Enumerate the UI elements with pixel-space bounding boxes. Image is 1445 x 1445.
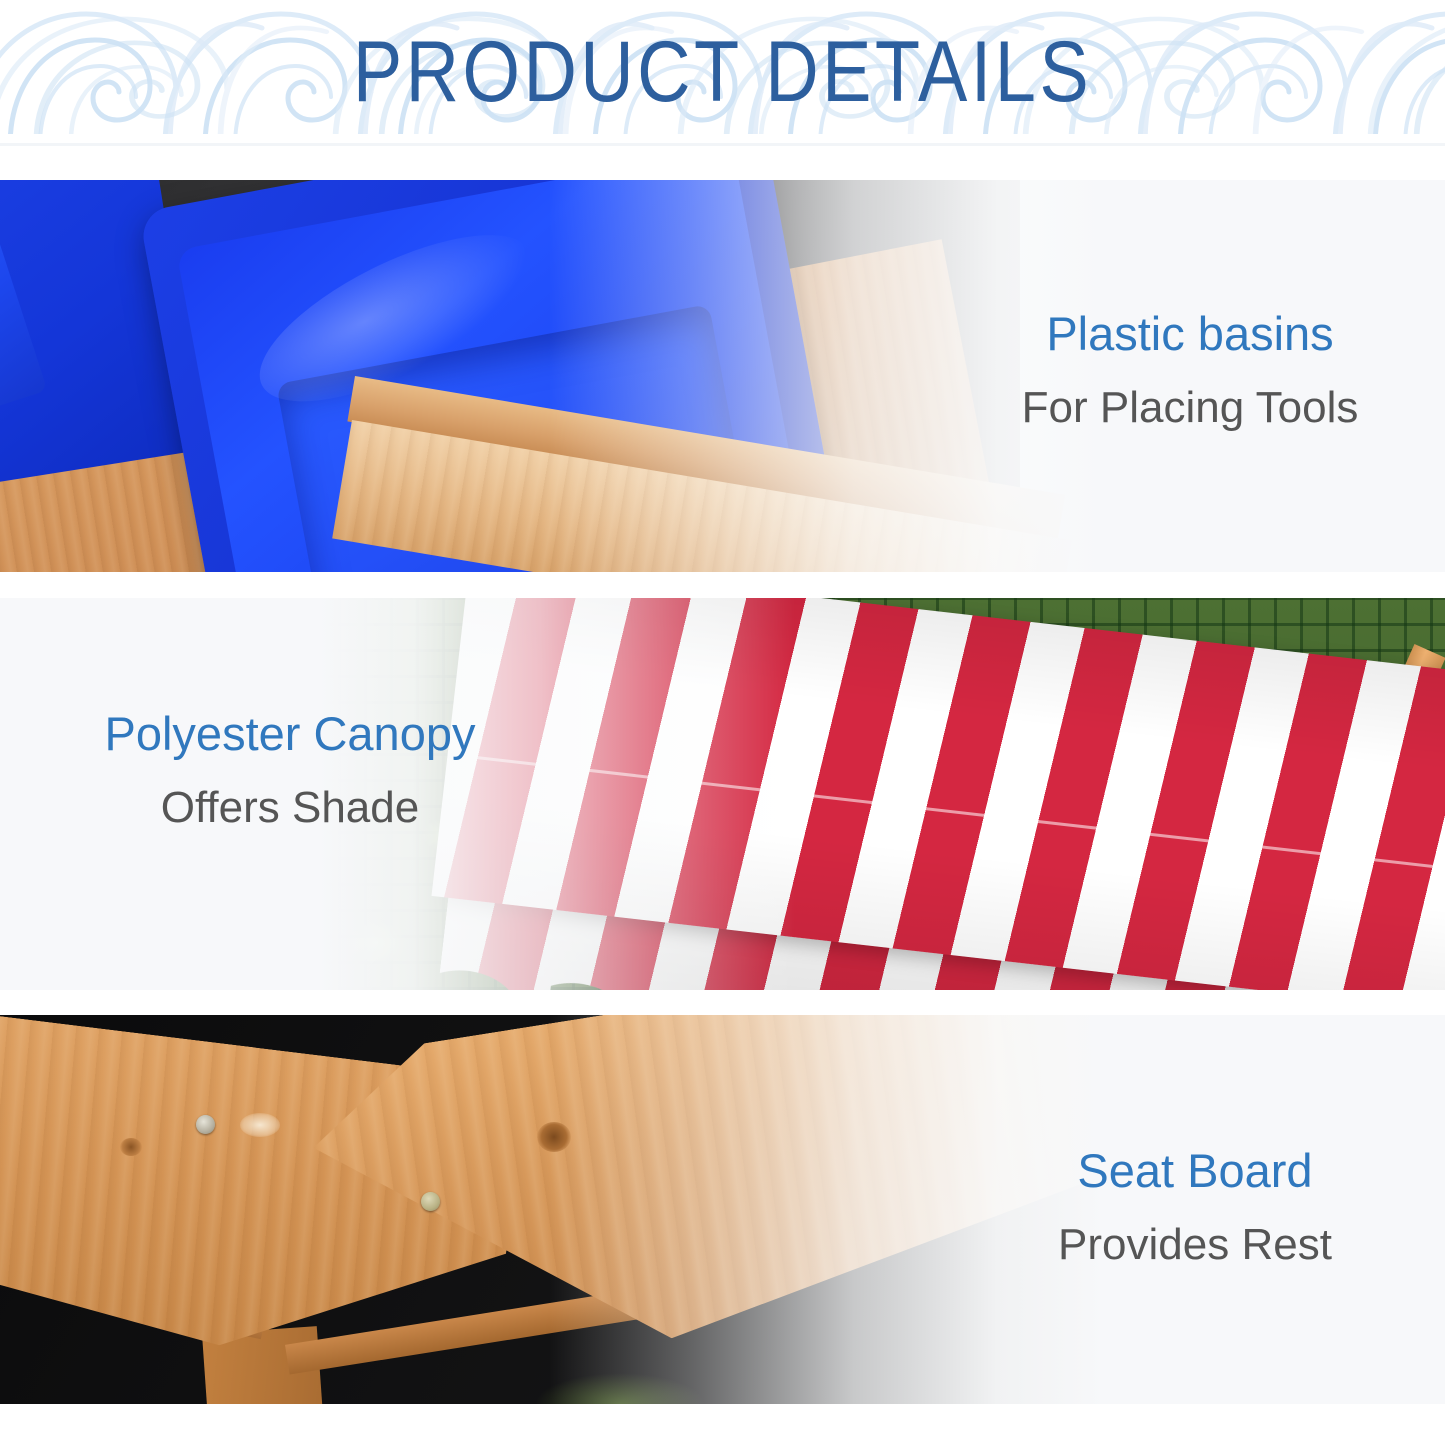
footer-whitespace <box>0 1404 1445 1445</box>
caption-plastic-basins: Plastic basins For Placing Tools <box>940 310 1440 431</box>
caption-title: Polyester Canopy <box>105 710 476 759</box>
screw-head-left <box>196 1115 215 1134</box>
plastic-basin-partial-interior <box>0 180 47 452</box>
page-title: PRODUCT DETAILS <box>101 20 1344 124</box>
caption-subtitle: Offers Shade <box>161 785 419 831</box>
caption-seat-board: Seat Board Provides Rest <box>950 1147 1440 1268</box>
caption-title: Plastic basins <box>1046 310 1333 359</box>
caption-subtitle: Provides Rest <box>1058 1222 1332 1268</box>
header-divider <box>0 143 1445 146</box>
wood-knot-left <box>120 1138 142 1156</box>
wood-knot-right <box>537 1122 571 1152</box>
caption-subtitle: For Placing Tools <box>1022 385 1359 431</box>
screw-head-right <box>421 1192 440 1211</box>
caption-polyester-canopy: Polyester Canopy Offers Shade <box>10 710 570 831</box>
caption-title: Seat Board <box>1077 1147 1312 1196</box>
header-banner: PRODUCT DETAILS <box>0 0 1445 146</box>
product-details-infographic: PRODUCT DETAILS Plas <box>0 0 1445 1445</box>
wood-paint-chip <box>240 1113 280 1137</box>
